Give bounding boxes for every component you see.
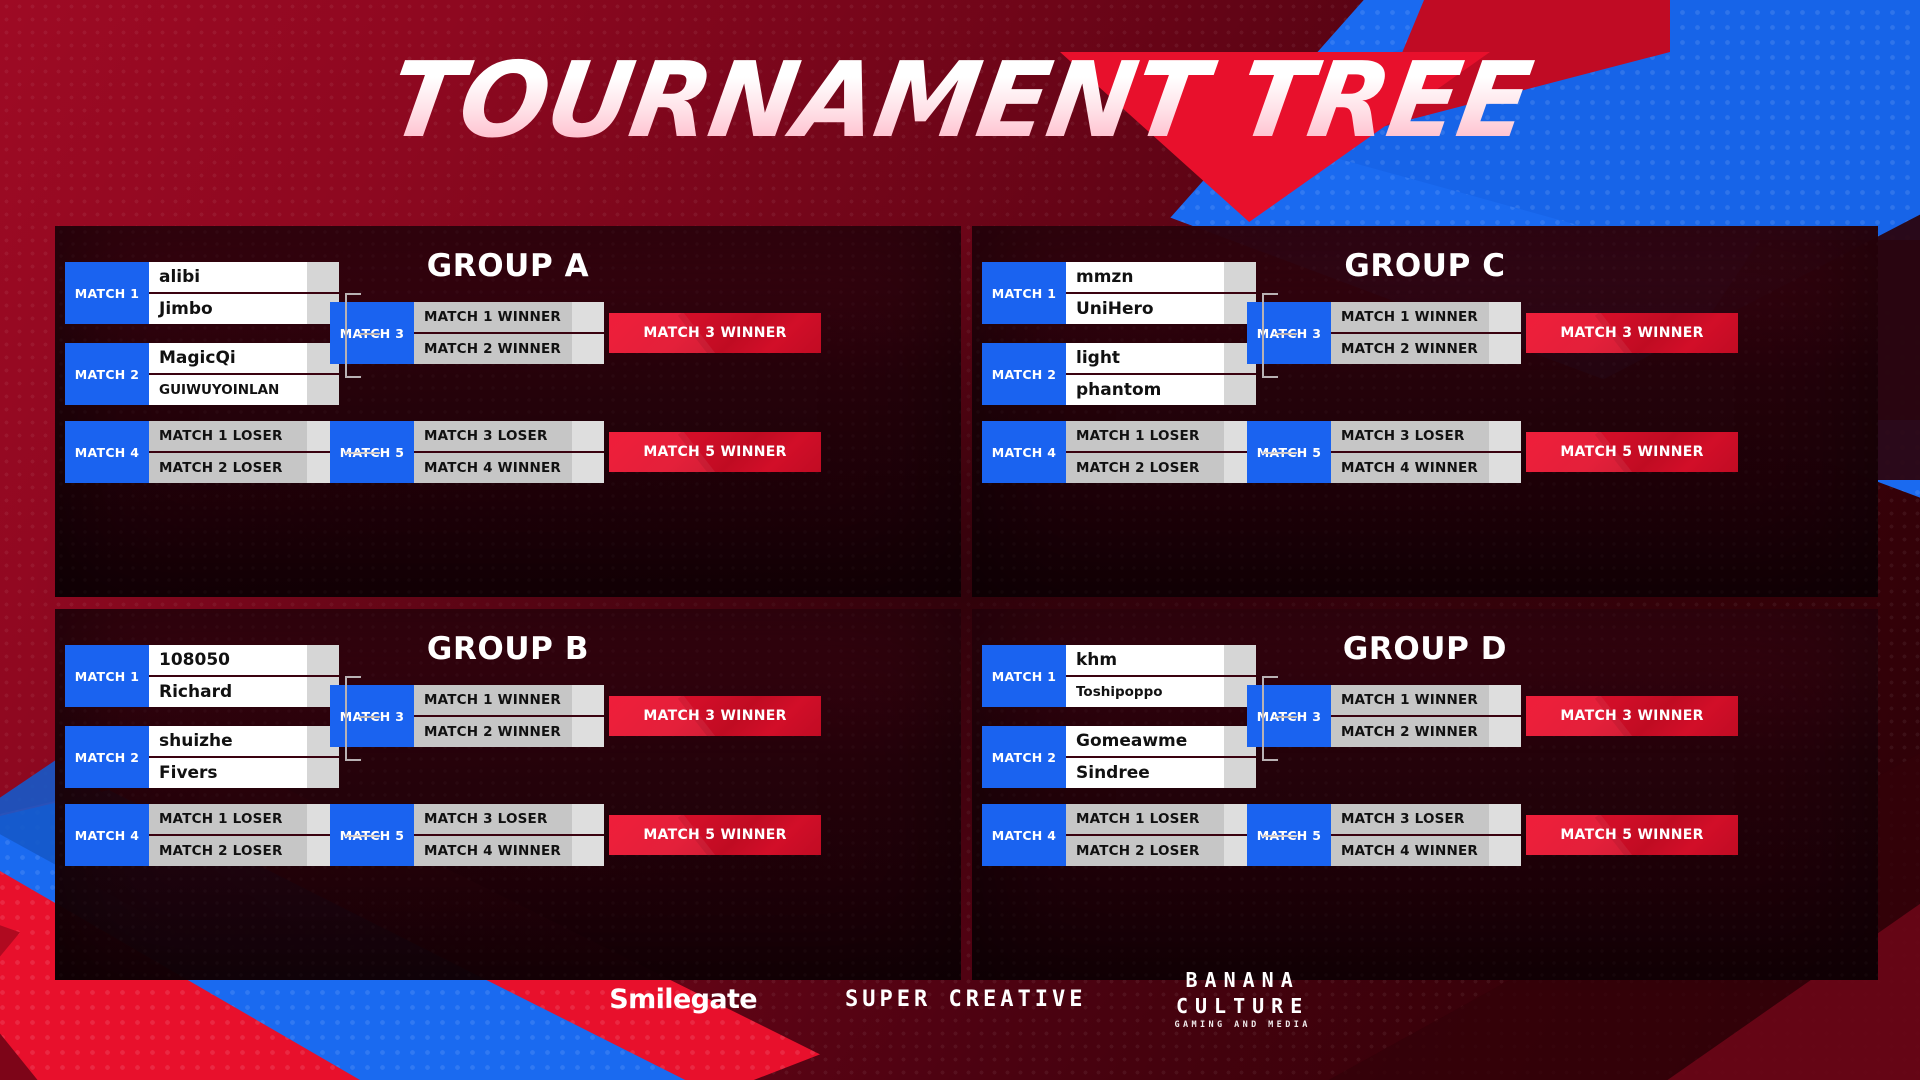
- lower-bracket-winner-button-label: MATCH 5 WINNER: [643, 827, 786, 843]
- match-block-match4: MATCH 4MATCH 1 LOSERMATCH 2 LOSER: [982, 804, 1256, 866]
- match-row[interactable]: MATCH 4 WINNER: [414, 834, 604, 866]
- logo-banana-culture: BANANA CULTURE GAMING AND MEDIA: [1174, 969, 1310, 1030]
- team-name: MagicQi: [149, 343, 307, 373]
- team-name: MATCH 2 WINNER: [414, 717, 572, 747]
- match-row[interactable]: light: [1066, 343, 1256, 373]
- match-row[interactable]: MATCH 2 LOSER: [1066, 834, 1256, 866]
- upper-bracket-winner-button[interactable]: MATCH 3 WINNER: [1526, 313, 1738, 353]
- lower-bracket-winner-button[interactable]: MATCH 5 WINNER: [609, 432, 821, 472]
- match-rows: 108050Richard: [149, 645, 339, 707]
- match-row[interactable]: MATCH 2 WINNER: [1331, 715, 1521, 747]
- team-name: MATCH 4 WINNER: [1331, 453, 1489, 483]
- group-panel-d: GROUP D MATCH 1khmToshipoppoMATCH 2Gomea…: [972, 609, 1878, 980]
- match-row[interactable]: MATCH 2 WINNER: [414, 332, 604, 364]
- match-block-match1: MATCH 1alibiJimbo: [65, 262, 339, 324]
- match-rows: MATCH 1 LOSERMATCH 2 LOSER: [1066, 421, 1256, 483]
- score-cell[interactable]: [1489, 685, 1521, 715]
- match-rows: MATCH 3 LOSERMATCH 4 WINNER: [414, 804, 604, 866]
- match-row[interactable]: MATCH 2 LOSER: [149, 834, 339, 866]
- bracket-connector-upper: [1262, 293, 1278, 378]
- match-block-match4: MATCH 4MATCH 1 LOSERMATCH 2 LOSER: [65, 804, 339, 866]
- team-name: Fivers: [149, 758, 307, 788]
- score-cell[interactable]: [572, 453, 604, 483]
- match-row[interactable]: UniHero: [1066, 292, 1256, 324]
- match-block-match1: MATCH 1108050Richard: [65, 645, 339, 707]
- upper-bracket-winner-button[interactable]: MATCH 3 WINNER: [609, 313, 821, 353]
- team-name: MATCH 1 LOSER: [149, 421, 307, 451]
- team-name: phantom: [1066, 375, 1224, 405]
- match-block-match2: MATCH 2MagicQiGUIWUYOINLAN: [65, 343, 339, 405]
- team-name: 108050: [149, 645, 307, 675]
- team-name: MATCH 3 LOSER: [1331, 421, 1489, 451]
- team-name: MATCH 1 LOSER: [1066, 421, 1224, 451]
- team-name: light: [1066, 343, 1224, 373]
- team-name: Richard: [149, 677, 307, 707]
- match-block-match1: MATCH 1khmToshipoppo: [982, 645, 1256, 707]
- bracket-stub-to-match3: [1276, 716, 1297, 718]
- match-block-match2: MATCH 2shuizheFivers: [65, 726, 339, 788]
- match-label-match4[interactable]: MATCH 4: [65, 804, 149, 866]
- bracket-connector-upper: [345, 293, 361, 378]
- match-label-match2[interactable]: MATCH 2: [65, 726, 149, 788]
- match-label-match4[interactable]: MATCH 4: [982, 421, 1066, 483]
- match-rows: lightphantom: [1066, 343, 1256, 405]
- match-row[interactable]: MATCH 1 WINNER: [414, 302, 604, 332]
- match-row[interactable]: Sindree: [1066, 756, 1256, 788]
- upper-bracket-winner-button-label: MATCH 3 WINNER: [1560, 708, 1703, 724]
- match-rows: MATCH 3 LOSERMATCH 4 WINNER: [1331, 421, 1521, 483]
- match-row[interactable]: MATCH 3 LOSER: [414, 421, 604, 451]
- match-row[interactable]: Jimbo: [149, 292, 339, 324]
- team-name: MATCH 1 WINNER: [1331, 685, 1489, 715]
- team-name: Toshipoppo: [1066, 677, 1224, 707]
- score-cell[interactable]: [1224, 262, 1256, 292]
- group-panel-c: GROUP C MATCH 1mmznUniHeroMATCH 2lightph…: [972, 226, 1878, 597]
- match-row[interactable]: MATCH 2 WINNER: [1331, 332, 1521, 364]
- match-block-match4: MATCH 4MATCH 1 LOSERMATCH 2 LOSER: [982, 421, 1256, 483]
- match-row[interactable]: phantom: [1066, 373, 1256, 405]
- match-row[interactable]: 108050: [149, 645, 339, 675]
- upper-bracket-winner-button-label: MATCH 3 WINNER: [1560, 325, 1703, 341]
- match-row[interactable]: MATCH 4 WINNER: [414, 451, 604, 483]
- match-block-match2: MATCH 2GomeawmeSindree: [982, 726, 1256, 788]
- match-label-match4[interactable]: MATCH 4: [65, 421, 149, 483]
- bracket-stub-to-match3: [359, 716, 380, 718]
- match-row[interactable]: MATCH 3 LOSER: [1331, 421, 1521, 451]
- match-label-match1[interactable]: MATCH 1: [982, 645, 1066, 707]
- team-name: Sindree: [1066, 758, 1224, 788]
- score-cell[interactable]: [307, 375, 339, 405]
- match-rows: MATCH 1 LOSERMATCH 2 LOSER: [149, 421, 339, 483]
- group-panel-a: GROUP A MATCH 1alibiJimboMATCH 2MagicQiG…: [55, 226, 961, 597]
- upper-bracket-winner-button-label: MATCH 3 WINNER: [643, 708, 786, 724]
- team-name: mmzn: [1066, 262, 1224, 292]
- team-name: MATCH 1 WINNER: [414, 685, 572, 715]
- match-label-match4[interactable]: MATCH 4: [982, 804, 1066, 866]
- match-rows: MATCH 1 WINNERMATCH 2 WINNER: [414, 302, 604, 364]
- score-cell[interactable]: [572, 334, 604, 364]
- team-name: alibi: [149, 262, 307, 292]
- match-block-match2: MATCH 2lightphantom: [982, 343, 1256, 405]
- match-rows: alibiJimbo: [149, 262, 339, 324]
- match-row[interactable]: Fivers: [149, 756, 339, 788]
- score-cell[interactable]: [572, 717, 604, 747]
- lower-bracket-winner-button-label: MATCH 5 WINNER: [643, 444, 786, 460]
- bracket-stub-to-match3: [359, 333, 380, 335]
- logo-super-creative: SUPER CREATIVE: [845, 987, 1086, 1012]
- logo-smilegate: Smilegate: [609, 984, 757, 1015]
- match-row[interactable]: MATCH 2 LOSER: [1066, 451, 1256, 483]
- lower-bracket-winner-button-label: MATCH 5 WINNER: [1560, 444, 1703, 460]
- score-cell[interactable]: [572, 804, 604, 834]
- logo-banana-line2: CULTURE: [1176, 995, 1309, 1017]
- score-cell[interactable]: [1489, 804, 1521, 834]
- team-name: MATCH 3 LOSER: [414, 804, 572, 834]
- team-name: Jimbo: [149, 294, 307, 324]
- team-name: MATCH 4 WINNER: [1331, 836, 1489, 866]
- team-name: MATCH 2 WINNER: [414, 334, 572, 364]
- team-name: UniHero: [1066, 294, 1224, 324]
- team-name: MATCH 4 WINNER: [414, 836, 572, 866]
- logo-banana-tagline: GAMING AND MEDIA: [1174, 1020, 1310, 1030]
- team-name: MATCH 3 LOSER: [1331, 804, 1489, 834]
- team-name: MATCH 2 LOSER: [1066, 453, 1224, 483]
- match-row[interactable]: MATCH 1 LOSER: [149, 804, 339, 834]
- logo-banana-line1: BANANA: [1185, 969, 1299, 991]
- bracket-line-match4-match5: [1262, 835, 1297, 837]
- score-cell[interactable]: [1489, 717, 1521, 747]
- team-name: MATCH 2 LOSER: [149, 836, 307, 866]
- lower-bracket-winner-button-label: MATCH 5 WINNER: [1560, 827, 1703, 843]
- bracket-stub-to-match3: [1276, 333, 1297, 335]
- team-name: MATCH 4 WINNER: [414, 453, 572, 483]
- score-cell[interactable]: [572, 836, 604, 866]
- match-row[interactable]: Richard: [149, 675, 339, 707]
- team-name: MATCH 3 LOSER: [414, 421, 572, 451]
- match-rows: MATCH 3 LOSERMATCH 4 WINNER: [414, 421, 604, 483]
- team-name: MATCH 2 LOSER: [149, 453, 307, 483]
- match-label-match2[interactable]: MATCH 2: [982, 343, 1066, 405]
- bracket-connector-upper: [345, 676, 361, 761]
- match-rows: mmznUniHero: [1066, 262, 1256, 324]
- match-rows: shuizheFivers: [149, 726, 339, 788]
- match-row[interactable]: MATCH 2 WINNER: [414, 715, 604, 747]
- lower-bracket-winner-button[interactable]: MATCH 5 WINNER: [1526, 815, 1738, 855]
- bracket-line-match4-match5: [1262, 452, 1297, 454]
- score-cell[interactable]: [1489, 302, 1521, 332]
- score-cell[interactable]: [1489, 453, 1521, 483]
- match-row[interactable]: MATCH 1 WINNER: [414, 685, 604, 715]
- bracket-connector-upper: [1262, 676, 1278, 761]
- lower-bracket-winner-button[interactable]: MATCH 5 WINNER: [609, 815, 821, 855]
- team-name: MATCH 2 LOSER: [1066, 836, 1224, 866]
- match-row[interactable]: GUIWUYOINLAN: [149, 373, 339, 405]
- score-cell[interactable]: [572, 685, 604, 715]
- match-row[interactable]: khm: [1066, 645, 1256, 675]
- footer-logos: Smilegate SUPER CREATIVE BANANA CULTURE …: [0, 969, 1920, 1030]
- team-name: MATCH 2 WINNER: [1331, 717, 1489, 747]
- match-row[interactable]: MATCH 3 LOSER: [414, 804, 604, 834]
- match-row[interactable]: MagicQi: [149, 343, 339, 373]
- team-name: GUIWUYOINLAN: [149, 375, 307, 405]
- match-label-match1[interactable]: MATCH 1: [65, 262, 149, 324]
- team-name: shuizhe: [149, 726, 307, 756]
- match-rows: MATCH 1 WINNERMATCH 2 WINNER: [1331, 685, 1521, 747]
- match-rows: GomeawmeSindree: [1066, 726, 1256, 788]
- match-row[interactable]: Toshipoppo: [1066, 675, 1256, 707]
- team-name: MATCH 2 WINNER: [1331, 334, 1489, 364]
- match-row[interactable]: MATCH 1 LOSER: [1066, 421, 1256, 451]
- match-rows: khmToshipoppo: [1066, 645, 1256, 707]
- score-cell[interactable]: [1224, 375, 1256, 405]
- match-rows: MATCH 1 WINNERMATCH 2 WINNER: [1331, 302, 1521, 364]
- bracket-line-match4-match5: [345, 452, 380, 454]
- page-title: TOURNAMENT TREE: [0, 48, 1920, 152]
- lower-bracket-winner-button[interactable]: MATCH 5 WINNER: [1526, 432, 1738, 472]
- match-row[interactable]: MATCH 2 LOSER: [149, 451, 339, 483]
- score-cell[interactable]: [1224, 758, 1256, 788]
- match-rows: MATCH 1 WINNERMATCH 2 WINNER: [414, 685, 604, 747]
- score-cell[interactable]: [1489, 421, 1521, 451]
- team-name: khm: [1066, 645, 1224, 675]
- group-panel-b: GROUP B MATCH 1108050RichardMATCH 2shuiz…: [55, 609, 961, 980]
- upper-bracket-winner-button-label: MATCH 3 WINNER: [643, 325, 786, 341]
- score-cell[interactable]: [307, 645, 339, 675]
- upper-bracket-winner-button[interactable]: MATCH 3 WINNER: [1526, 696, 1738, 736]
- bracket-line-match4-match5: [345, 835, 380, 837]
- match-row[interactable]: Gomeawme: [1066, 726, 1256, 756]
- match-row[interactable]: MATCH 1 LOSER: [149, 421, 339, 451]
- match-block-match4: MATCH 4MATCH 1 LOSERMATCH 2 LOSER: [65, 421, 339, 483]
- match-row[interactable]: MATCH 4 WINNER: [1331, 451, 1521, 483]
- score-cell[interactable]: [307, 758, 339, 788]
- score-cell[interactable]: [572, 421, 604, 451]
- match-row[interactable]: MATCH 4 WINNER: [1331, 834, 1521, 866]
- match-rows: MagicQiGUIWUYOINLAN: [149, 343, 339, 405]
- match-row[interactable]: alibi: [149, 262, 339, 292]
- match-row[interactable]: MATCH 3 LOSER: [1331, 804, 1521, 834]
- team-name: MATCH 1 LOSER: [1066, 804, 1224, 834]
- score-cell[interactable]: [1489, 836, 1521, 866]
- score-cell[interactable]: [572, 302, 604, 332]
- match-row[interactable]: MATCH 1 WINNER: [1331, 302, 1521, 332]
- match-rows: MATCH 1 LOSERMATCH 2 LOSER: [1066, 804, 1256, 866]
- match-rows: MATCH 1 LOSERMATCH 2 LOSER: [149, 804, 339, 866]
- match-row[interactable]: shuizhe: [149, 726, 339, 756]
- score-cell[interactable]: [1489, 334, 1521, 364]
- match-row[interactable]: MATCH 1 WINNER: [1331, 685, 1521, 715]
- match-block-match1: MATCH 1mmznUniHero: [982, 262, 1256, 324]
- match-label-match2[interactable]: MATCH 2: [65, 343, 149, 405]
- match-rows: MATCH 3 LOSERMATCH 4 WINNER: [1331, 804, 1521, 866]
- team-name: MATCH 1 LOSER: [149, 804, 307, 834]
- match-label-match2[interactable]: MATCH 2: [982, 726, 1066, 788]
- team-name: MATCH 1 WINNER: [414, 302, 572, 332]
- match-row[interactable]: mmzn: [1066, 262, 1256, 292]
- team-name: Gomeawme: [1066, 726, 1224, 756]
- match-label-match1[interactable]: MATCH 1: [982, 262, 1066, 324]
- upper-bracket-winner-button[interactable]: MATCH 3 WINNER: [609, 696, 821, 736]
- score-cell[interactable]: [1224, 645, 1256, 675]
- match-row[interactable]: MATCH 1 LOSER: [1066, 804, 1256, 834]
- match-label-match1[interactable]: MATCH 1: [65, 645, 149, 707]
- team-name: MATCH 1 WINNER: [1331, 302, 1489, 332]
- score-cell[interactable]: [307, 262, 339, 292]
